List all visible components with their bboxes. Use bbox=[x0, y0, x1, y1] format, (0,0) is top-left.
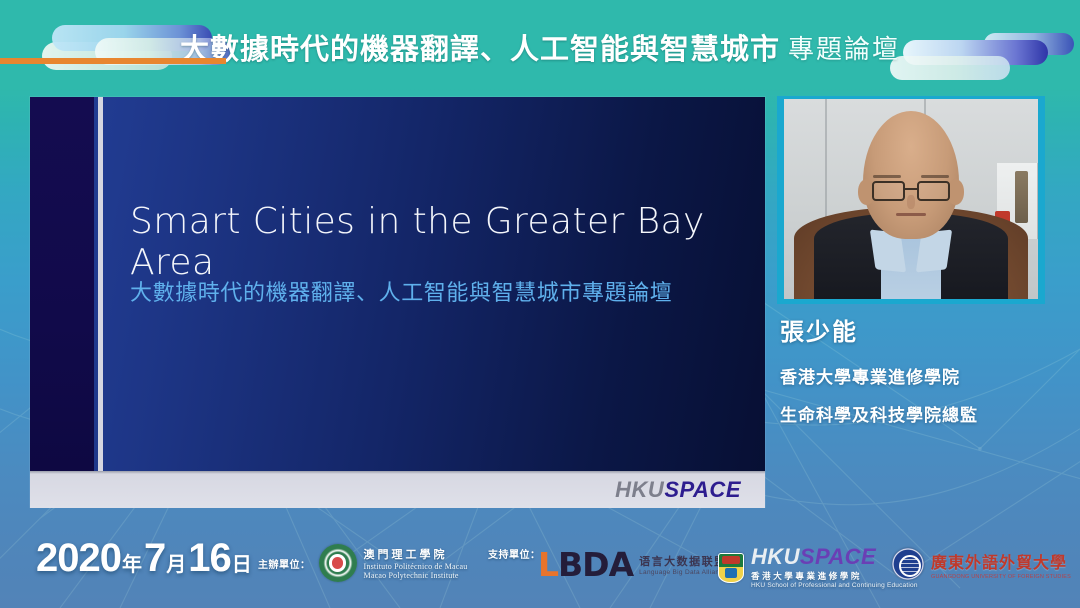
logo-gdufs[interactable]: 廣東外語外貿大學 GUANGDONG UNIVERSITY OF FOREIGN… bbox=[892, 548, 1071, 580]
footer-bar: 2020年7月16日 主辦單位： 澳門理工學院 Instituto Polité… bbox=[0, 528, 1080, 608]
logo-hku-space[interactable]: HKUSPACE 香港大學專業進修學院 HKU School of Profes… bbox=[718, 546, 918, 589]
eyebrow-left bbox=[873, 175, 901, 178]
mpi-name-pt: Instituto Politécnico de Macau bbox=[364, 562, 468, 571]
glasses-lens-right bbox=[917, 181, 950, 201]
speaker-video-feed[interactable] bbox=[777, 96, 1045, 304]
speaker-info-panel: 張少能 香港大學專業進修學院 生命科學及科技學院總監 bbox=[780, 312, 1070, 439]
plant-decor bbox=[1015, 171, 1028, 223]
lbda-letter-l: L bbox=[538, 545, 558, 584]
date-year: 2020 bbox=[36, 536, 121, 580]
logo-lbda[interactable]: LBDA 语言大数据联盟 Language Big Data Alliance bbox=[538, 548, 727, 581]
presentation-slide[interactable]: Smart Cities in the Greater Bay Area 大數據… bbox=[30, 97, 765, 507]
supporter-label: 支持單位： bbox=[488, 546, 541, 561]
mpi-text-block: 澳門理工學院 Instituto Politécnico de Macau Ma… bbox=[364, 546, 468, 580]
speaker-position: 生命科學及科技學院總監 bbox=[780, 401, 1070, 426]
nose bbox=[907, 195, 915, 209]
hkuspace-space-text: SPACE bbox=[800, 544, 876, 569]
gdufs-crest-icon bbox=[892, 548, 924, 580]
lbda-text-block: 语言大数据联盟 Language Big Data Alliance bbox=[639, 553, 727, 576]
event-date: 2020年7月16日 bbox=[36, 536, 254, 581]
page-title-suffix: 專題論壇 bbox=[788, 29, 900, 66]
mpi-name-en: Macao Polytechnic Institute bbox=[364, 571, 468, 580]
slide-left-band bbox=[30, 97, 94, 507]
eyebrow-right bbox=[921, 175, 949, 178]
video-frame-content bbox=[784, 99, 1038, 299]
gdufs-name-cn: 廣東外語外貿大學 bbox=[931, 549, 1071, 573]
organizer-label: 主辦單位： bbox=[258, 556, 311, 571]
hkuspace-logo-slide: HKUSPACE bbox=[615, 477, 741, 503]
lbda-name-cn: 语言大数据联盟 bbox=[639, 553, 727, 569]
page-title: 大數據時代的機器翻譯、人工智能與智慧城市 bbox=[180, 26, 780, 68]
date-day: 16 bbox=[188, 536, 231, 580]
speaker-name: 張少能 bbox=[780, 312, 1070, 347]
date-month-unit: 月 bbox=[166, 554, 186, 576]
hkuspace-logo: HKUSPACE 香港大學專業進修學院 HKU School of Profes… bbox=[718, 546, 918, 589]
gdufs-text-block: 廣東外語外貿大學 GUANGDONG UNIVERSITY OF FOREIGN… bbox=[931, 549, 1071, 580]
glasses-bridge bbox=[905, 188, 918, 190]
organizer-block: 主辦單位： 澳門理工學院 Instituto Politécnico de Ma… bbox=[258, 544, 467, 582]
lbda-wordmark: LBDA bbox=[538, 548, 633, 581]
slide-title: Smart Cities in the Greater Bay Area bbox=[130, 201, 760, 283]
mouth bbox=[896, 213, 927, 216]
hkuspace-logo-space-text: SPACE bbox=[664, 477, 741, 502]
slide-divider-rule bbox=[98, 97, 103, 507]
lbda-logo: LBDA 语言大数据联盟 Language Big Data Alliance bbox=[538, 548, 727, 581]
gdufs-name-en: GUANGDONG UNIVERSITY OF FOREIGN STUDIES bbox=[931, 574, 1071, 580]
hkuspace-logo-hku-text: HKU bbox=[615, 477, 664, 502]
slide-subtitle: 大數據時代的機器翻譯、人工智能與智慧城市專題論壇 bbox=[130, 275, 760, 307]
gdufs-logo: 廣東外語外貿大學 GUANGDONG UNIVERSITY OF FOREIGN… bbox=[892, 548, 1071, 580]
hkuspace-hku-text: HKU bbox=[751, 544, 800, 569]
lbda-letters-bda: BDA bbox=[558, 545, 633, 584]
date-month: 7 bbox=[144, 536, 165, 580]
mpi-seal-icon bbox=[319, 544, 357, 582]
lbda-name-en: Language Big Data Alliance bbox=[639, 569, 727, 576]
mpi-name-cn: 澳門理工學院 bbox=[364, 546, 468, 562]
slide-footer-bar: HKUSPACE bbox=[30, 471, 765, 508]
hku-crest-icon bbox=[718, 553, 744, 583]
orange-accent-bar bbox=[0, 58, 226, 64]
presentation-stage: 大數據時代的機器翻譯、人工智能與智慧城市 專題論壇 Smart Cities i… bbox=[0, 0, 1080, 608]
speaker-affiliation: 香港大學專業進修學院 bbox=[780, 363, 1070, 388]
hkuspace-name-en: HKU School of Professional and Continuin… bbox=[751, 582, 918, 589]
date-year-unit: 年 bbox=[122, 554, 142, 576]
glasses-lens-left bbox=[872, 181, 905, 201]
date-day-unit: 日 bbox=[232, 554, 252, 576]
logo-macao-polytechnic-institute[interactable]: 澳門理工學院 Instituto Politécnico de Macau Ma… bbox=[319, 544, 468, 582]
